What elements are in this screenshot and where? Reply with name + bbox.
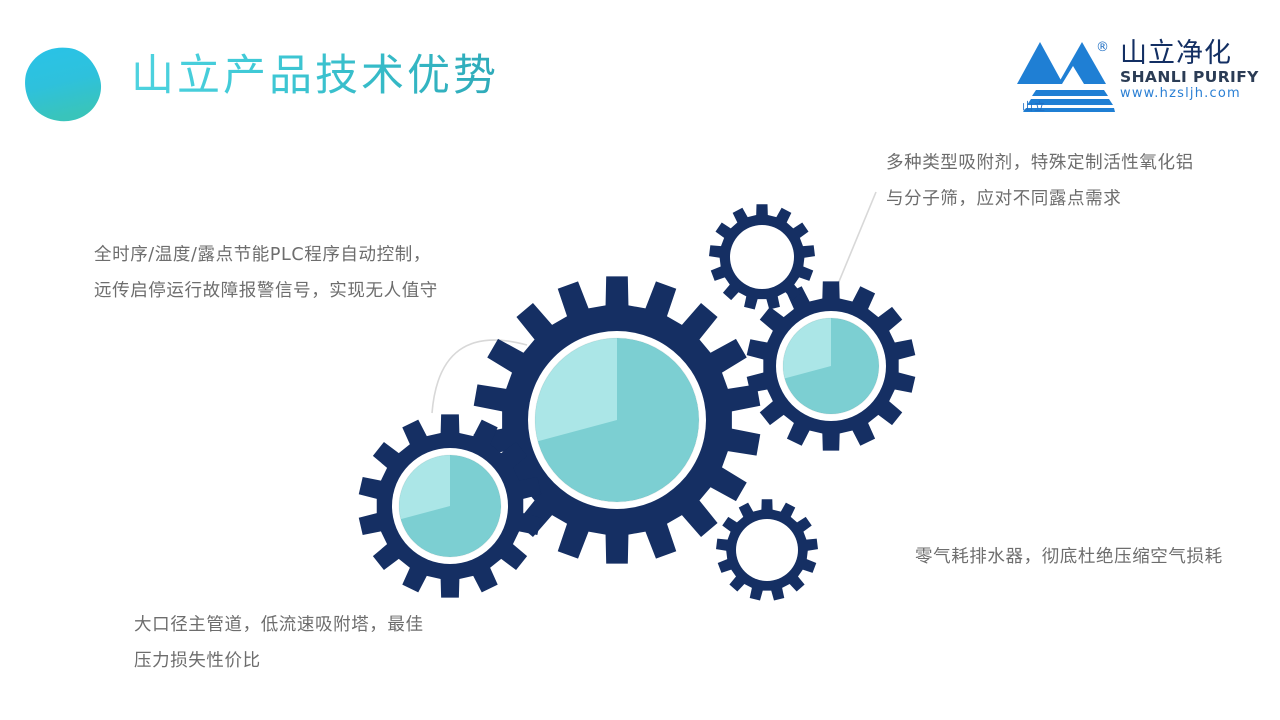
callout-large-bore-pipeline: 大口径主管道，低流速吸附塔，最佳压力损失性价比 (134, 608, 434, 680)
callout-adsorbent-types: 多种类型吸附剂，特殊定制活性氧化铝与分子筛，应对不同露点需求 (886, 146, 1206, 218)
logo-website-url: www.hzsljh.com (1120, 87, 1270, 102)
logo-brand-cn: 山立净化 (1120, 40, 1270, 68)
gear-bottom-left (359, 414, 542, 597)
connector-layer (432, 192, 876, 413)
decorative-blob-icon (22, 46, 106, 124)
connector-top-right-line (826, 192, 876, 313)
registered-trademark-icon: ® (1096, 40, 1109, 55)
gear-bottom-small (716, 499, 818, 600)
callout-plc-control: 全时序/温度/露点节能PLC程序自动控制，远传启停运行故障报警信号，实现无人值守 (94, 238, 446, 310)
slide-root: 山立产品技术优势 ® 山立 山立净化 SHANLI PURIFY www.hzs… (0, 0, 1280, 720)
gear-right (747, 281, 916, 450)
page-title: 山立产品技术优势 (131, 52, 499, 101)
callout-zero-air-loss-drain: 零气耗排水器，彻底杜绝压缩空气损耗 (915, 540, 1225, 576)
gear-top-small (709, 204, 815, 309)
gear-main (474, 276, 761, 563)
logo-brand-en: SHANLI PURIFY (1120, 69, 1270, 86)
brand-logo: ® 山立 山立净化 SHANLI PURIFY www.hzsljh.com (1010, 36, 1268, 116)
logo-text-group: 山立净化 SHANLI PURIFY www.hzsljh.com (1120, 40, 1270, 102)
logo-mark-label: 山立 (1022, 98, 1046, 114)
connector-top-left-curve (432, 340, 527, 413)
